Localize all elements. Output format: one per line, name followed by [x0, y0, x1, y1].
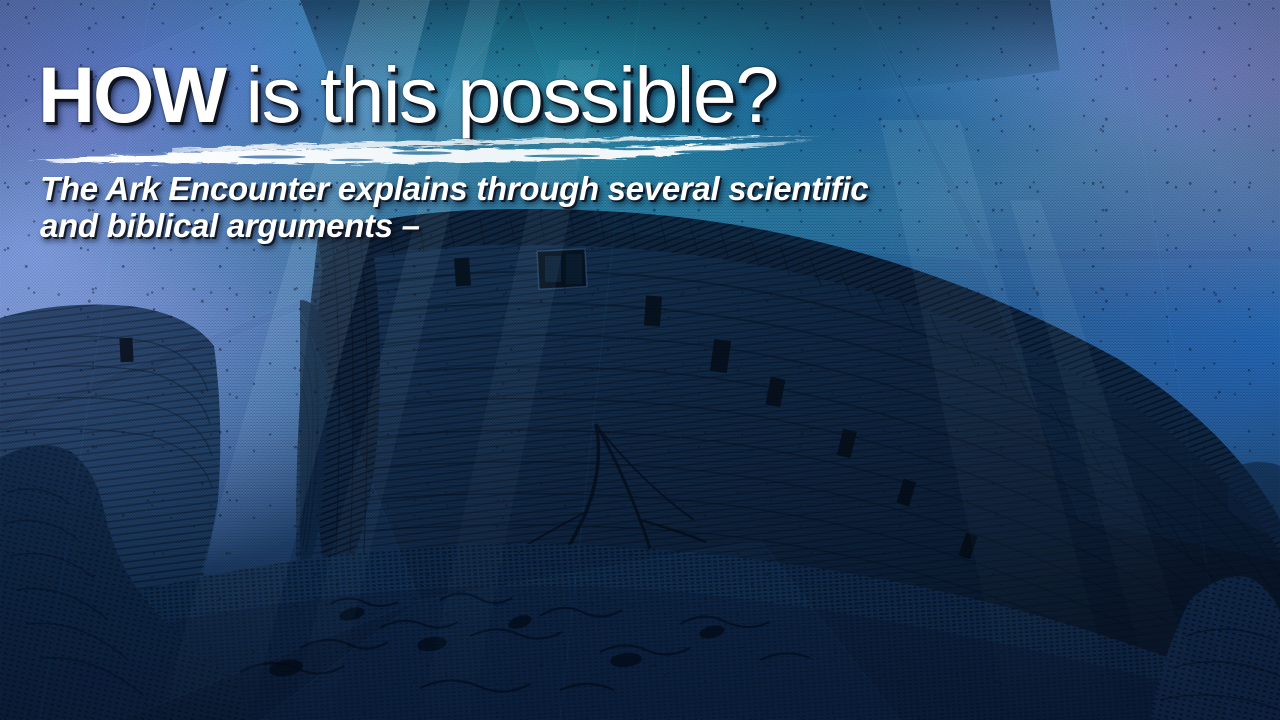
headline-emphasis: HOW: [38, 50, 225, 139]
subtitle-line-2: and biblical arguments –: [40, 207, 1010, 244]
page-title: HOW is this possible?: [38, 52, 778, 138]
brush-stroke-underline: [22, 132, 832, 174]
subtitle-line-1: The Ark Encounter explains through sever…: [40, 170, 868, 207]
headline-remainder: is this possible?: [225, 50, 778, 139]
presentation-slide: HOW is this possible?: [0, 0, 1280, 720]
slide-subtitle: The Ark Encounter explains through sever…: [40, 170, 1010, 244]
